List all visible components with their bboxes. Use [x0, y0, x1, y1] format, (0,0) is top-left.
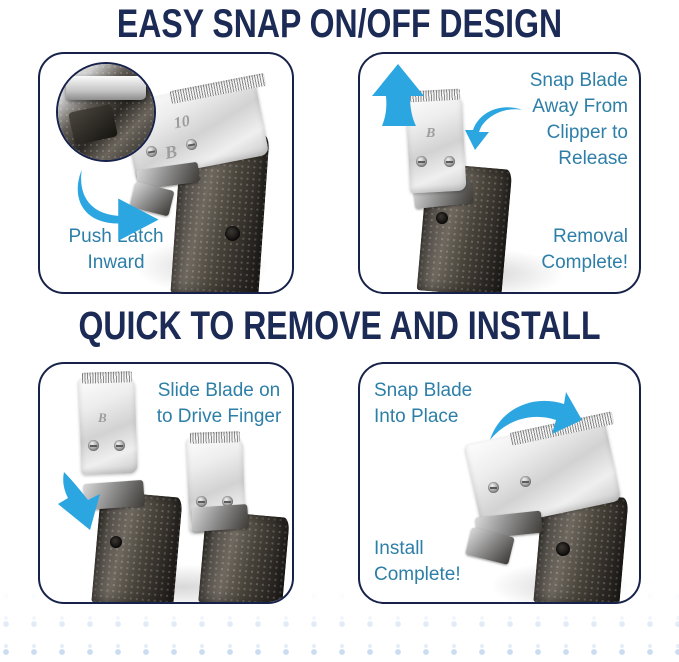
curved-right-arrow — [72, 172, 168, 242]
down-arrow — [50, 468, 110, 538]
latch-closeup-inset — [56, 62, 156, 162]
panel-slide-blade-on: B Slide Blade on to Drive Finger — [38, 362, 294, 604]
page-title-secondary: QUICK TO REMOVE AND INSTALL — [68, 304, 611, 348]
detached-blade-head — [78, 377, 137, 475]
latch-closeup-art — [58, 64, 154, 160]
blade-screw-left — [488, 482, 499, 493]
clipper-port-hole — [436, 212, 448, 224]
page-title-primary: EASY SNAP ON/OFF DESIGN — [68, 2, 611, 46]
panel-snap-blade-away: B Snap Blade Away From Clipper to Releas… — [358, 52, 641, 294]
sliding-blade-teeth — [190, 431, 240, 444]
blade-screw-left — [88, 440, 99, 451]
clipper-drive-finger-2 — [191, 504, 249, 532]
blade-screw-left — [416, 156, 427, 167]
curved-left-arrow — [464, 106, 516, 152]
panel-push-latch-inward: 10 B Push Latch Inward — [38, 52, 294, 294]
brand-letter-label: B — [98, 410, 107, 426]
brand-letter-label: B — [426, 126, 435, 142]
clipper-port-hole — [556, 542, 570, 556]
curved-down-right-arrow — [488, 382, 584, 452]
slide-blade-caption: Slide Blade on to Drive Finger — [144, 378, 294, 430]
blade-screw-right — [444, 156, 455, 167]
removal-complete-caption: Removal Complete! — [480, 224, 628, 276]
brand-letter-label-2 — [206, 468, 209, 484]
install-complete-caption: Install Complete! — [374, 536, 534, 588]
clipper-port-hole — [110, 536, 122, 548]
blade-screw-right — [520, 476, 531, 487]
blade-screw-left-2 — [196, 496, 207, 507]
blade-size-label: 10 — [172, 113, 191, 134]
clipper-port-hole — [225, 226, 240, 241]
blade-screw-right — [114, 440, 125, 451]
detached-blade-teeth — [82, 371, 132, 384]
infographic-page: EASY SNAP ON/OFF DESIGN 10 B — [0, 0, 679, 662]
panel-snap-blade-into-place: Snap Blade Into Place Install Complete! — [358, 362, 641, 604]
up-arrow — [370, 62, 426, 128]
